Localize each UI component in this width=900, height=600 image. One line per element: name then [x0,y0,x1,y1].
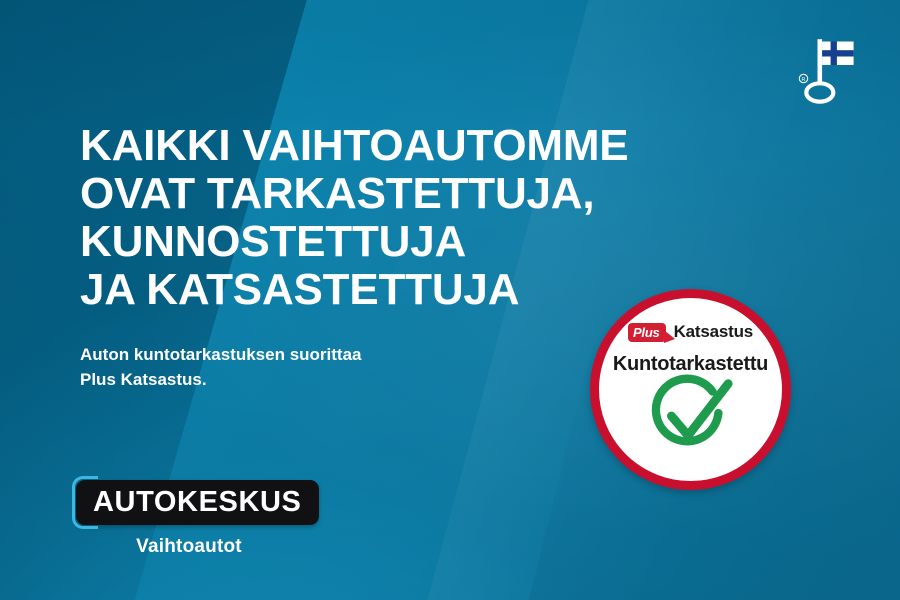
badge-inner: Plus Katsastus Kuntotarkastettu [599,298,782,481]
page-title: KAIKKI VAIHTOAUTOMME OVAT TARKASTETTUJA,… [80,122,700,314]
avainlippu-keyflag-icon: R [787,26,857,106]
status-badge: Plus Katsastus Kuntotarkastettu [590,289,791,490]
badge-brand-lockup: Plus Katsastus [599,322,782,342]
autokeskus-plate: AUTOKESKUS [76,480,319,525]
subtitle-text: Auton kuntotarkastuksen suorittaa Plus K… [80,342,560,392]
autokeskus-wordmark: AUTOKESKUS [93,486,302,518]
plus-logo-tail-icon [664,330,675,343]
check-mark-icon [642,370,740,465]
plus-logo-text: Plus [633,326,660,339]
svg-text:R: R [802,77,806,83]
badge-brand-word: Katsastus [674,322,753,342]
plus-logo-mark: Plus [628,323,666,342]
promo-banner: KAIKKI VAIHTOAUTOMME OVAT TARKASTETTUJA,… [0,0,900,600]
autokeskus-logo[interactable]: AUTOKESKUS Vaihtoautot [76,480,316,558]
autokeskus-tagline: Vaihtoautot [76,536,302,558]
